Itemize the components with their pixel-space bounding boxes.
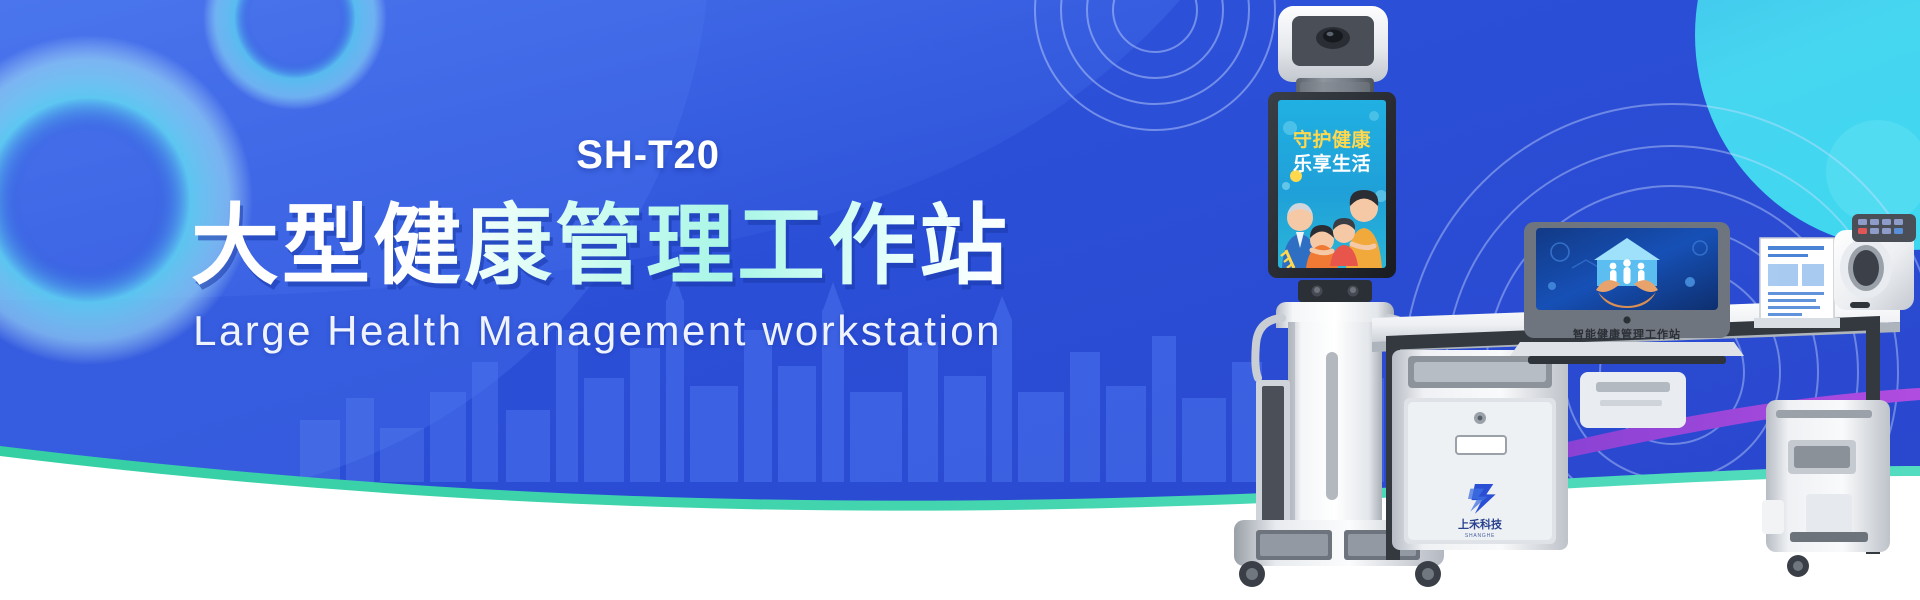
brochure-holder [1754,238,1840,328]
desk-printer [1580,372,1686,428]
cabinet-brand-text: 上禾科技 [1458,517,1503,531]
desk-cabinet: 上禾科技 SHANGHE [1392,350,1568,550]
monitor-label: 智能健康管理工作站 [1573,327,1681,341]
workstation-desk: 上禾科技 SHANGHE [1372,214,1916,577]
product-banner: SH-T20 大型健康管理工作站 Large Health Management… [0,0,1920,600]
desk-right-unit [1762,400,1890,577]
blood-pressure-monitor [1834,214,1916,310]
desk-monitor: 智能健康管理工作站 [1510,222,1744,364]
kiosk-ad-line1: 守护健康 [1293,128,1372,151]
cabinet-brand-sub: SHANGHE [1465,533,1495,539]
kiosk-ad-line2: 乐享生活 [1293,152,1371,175]
product-photo: 上禾科技 SHANGHE TECH 守护健康 乐享生活 [1000,0,1920,600]
